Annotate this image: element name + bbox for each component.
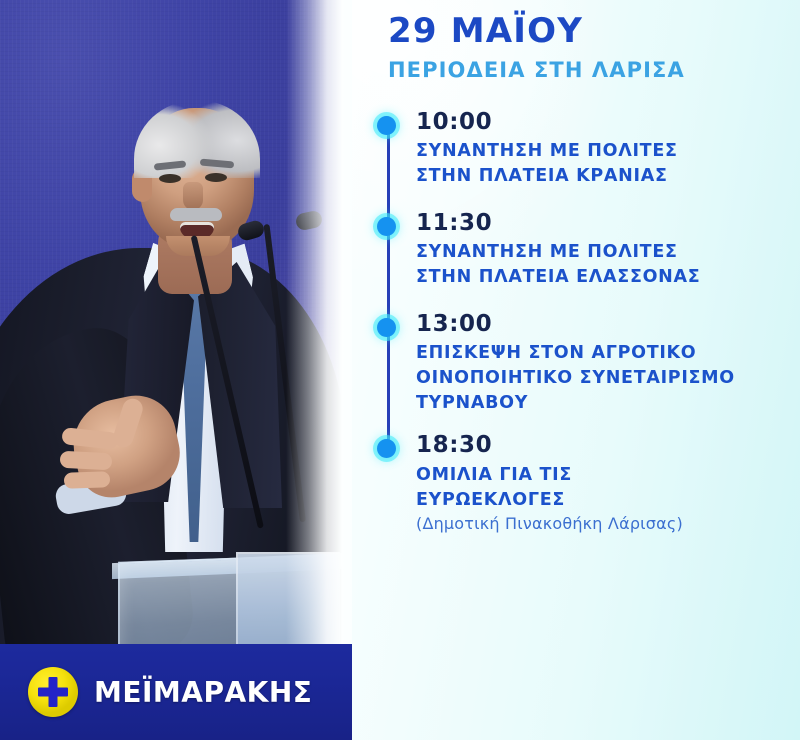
schedule-item-description: ΕΠΙΣΚΕΨΗ ΣΤΟΝ ΑΓΡΟΤΙΚΟ ΟΙΝΟΠΟΙΗΤΙΚΟ ΣΥΝΕ… [416,341,786,416]
finger [60,451,113,471]
schedule-item-line: ΣΥΝΑΝΤΗΣΗ ΜΕ ΠΟΛΙΤΕΣ [416,139,786,164]
schedule-timeline: 10:00 ΣΥΝΑΝΤΗΣΗ ΜΕ ΠΟΛΙΤΕΣ ΣΤΗΝ ΠΛΑΤΕΙΑ … [370,110,786,534]
schedule-item-line: ΕΠΙΣΚΕΨΗ ΣΤΟΝ ΑΓΡΟΤΙΚΟ [416,341,786,366]
schedule-item-venue: (Δημοτική Πινακοθήκη Λάρισας) [416,514,786,533]
schedule-item-line: ΤΥΡΝΑΒΟΥ [416,391,786,416]
finger [64,471,111,489]
nose [183,182,203,210]
schedule-item-line: ΕΥΡΩΕΚΛΟΓΕΣ [416,488,786,513]
grey-hair [134,100,260,178]
schedule-panel: 29 ΜΑΪΟΥ ΠΕΡΙΟΔΕΙΑ ΣΤΗ ΛΑΡΙΣΑ 10:00 ΣΥΝΑ… [352,0,800,740]
schedule-item: 13:00 ΕΠΙΣΚΕΨΗ ΣΤΟΝ ΑΓΡΟΤΙΚΟ ΟΙΝΟΠΟΙΗΤΙΚ… [416,312,786,416]
photo-edge-fade [286,0,352,740]
schedule-item-description: ΟΜΙΛΙΑ ΓΙΑ ΤΙΣ ΕΥΡΩΕΚΛΟΓΕΣ (Δημοτική Πιν… [416,463,786,534]
eye-right [205,173,227,182]
eye-left [159,174,181,183]
schedule-item-time: 11:30 [416,211,786,236]
timeline-dot-icon [377,318,396,337]
schedule-item-time: 18:30 [416,433,786,458]
schedule-item-time: 10:00 [416,110,786,135]
schedule-header: 29 ΜΑΪΟΥ ΠΕΡΙΟΔΕΙΑ ΣΤΗ ΛΑΡΙΣΑ [370,14,786,82]
moustache [170,208,222,221]
schedule-item-line: ΟΜΙΛΙΑ ΓΙΑ ΤΙΣ [416,463,786,488]
schedule-item-description: ΣΥΝΑΝΤΗΣΗ ΜΕ ΠΟΛΙΤΕΣ ΣΤΗΝ ΠΛΑΤΕΙΑ ΕΛΑΣΣΟ… [416,240,786,290]
timeline-dot-icon [377,217,396,236]
timeline-axis [387,126,390,449]
campaign-schedule-poster: ΜΕΪΜΑΡΑΚΗΣ 29 ΜΑΪΟΥ ΠΕΡΙΟΔΕΙΑ ΣΤΗ ΛΑΡΙΣΑ… [0,0,800,740]
poster-tour-title: ΠΕΡΙΟΔΕΙΑ ΣΤΗ ΛΑΡΙΣΑ [388,58,786,82]
speaker-photo: ΜΕΪΜΑΡΑΚΗΣ [0,0,352,740]
plus-in-yellow-circle-icon [28,667,78,717]
candidate-name: ΜΕΪΜΑΡΑΚΗΣ [94,676,312,709]
schedule-item-description: ΣΥΝΑΝΤΗΣΗ ΜΕ ΠΟΛΙΤΕΣ ΣΤΗΝ ΠΛΑΤΕΙΑ ΚΡΑΝΙΑ… [416,139,786,189]
timeline-dot-icon [377,439,396,458]
schedule-item-time: 13:00 [416,312,786,337]
schedule-item-line: ΣΤΗΝ ΠΛΑΤΕΙΑ ΚΡΑΝΙΑΣ [416,164,786,189]
schedule-item: 18:30 ΟΜΙΛΙΑ ΓΙΑ ΤΙΣ ΕΥΡΩΕΚΛΟΓΕΣ (Δημοτι… [416,433,786,533]
schedule-item-line: ΣΥΝΑΝΤΗΣΗ ΜΕ ΠΟΛΙΤΕΣ [416,240,786,265]
schedule-item: 11:30 ΣΥΝΑΝΤΗΣΗ ΜΕ ΠΟΛΙΤΕΣ ΣΤΗΝ ΠΛΑΤΕΙΑ … [416,211,786,290]
timeline-dot-icon [377,116,396,135]
schedule-item: 10:00 ΣΥΝΑΝΤΗΣΗ ΜΕ ΠΟΛΙΤΕΣ ΣΤΗΝ ΠΛΑΤΕΙΑ … [416,110,786,189]
schedule-item-line: ΣΤΗΝ ΠΛΑΤΕΙΑ ΕΛΑΣΣΟΝΑΣ [416,265,786,290]
campaign-logo-band: ΜΕΪΜΑΡΑΚΗΣ [0,644,352,740]
poster-date: 29 ΜΑΪΟΥ [388,14,786,50]
schedule-item-line: ΟΙΝΟΠΟΙΗΤΙΚΟ ΣΥΝΕΤΑΙΡΙΣΜΟ [416,366,786,391]
